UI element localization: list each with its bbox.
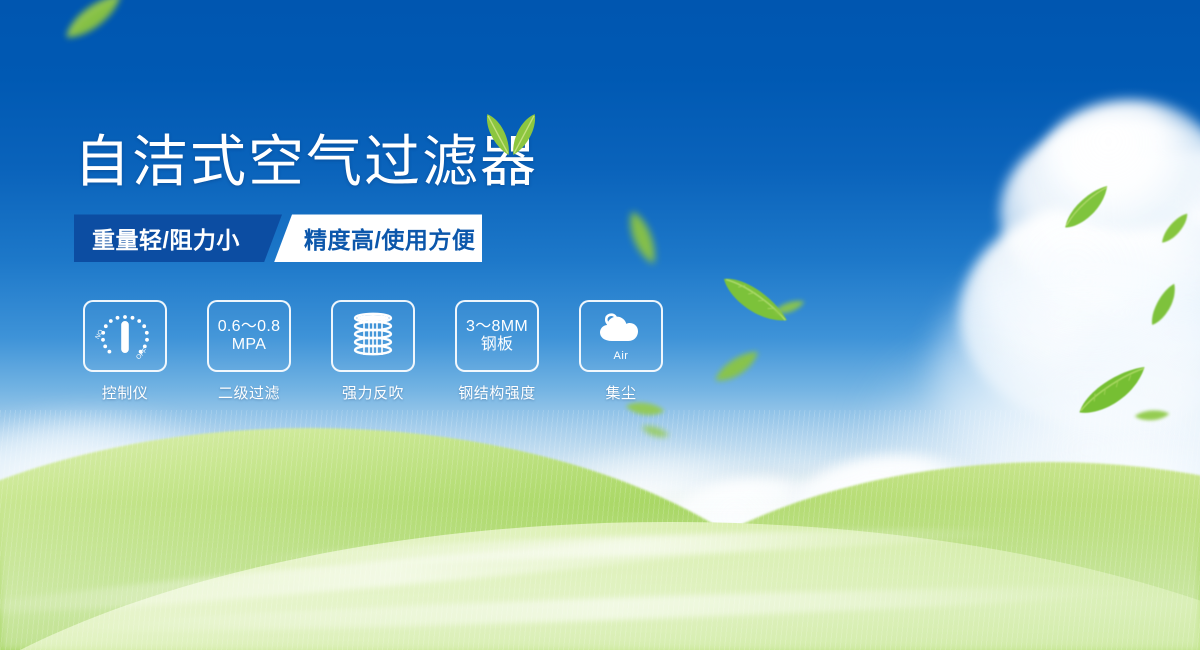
feature-item-controller: NO OFF 控制仪 bbox=[74, 300, 176, 403]
leaf-decoration bbox=[707, 346, 766, 388]
grass-sheen bbox=[0, 500, 1200, 650]
feature-item-steel: 3～8MM 钢板 钢结构强度 bbox=[446, 300, 548, 403]
feature-icon-box: NO OFF bbox=[83, 300, 167, 372]
sprout-leaves-icon bbox=[467, 106, 553, 164]
steel-line-1: 3～8MM bbox=[466, 318, 528, 337]
cloud-shape bbox=[1040, 100, 1200, 230]
feature-icon-box: 3～8MM 钢板 bbox=[455, 300, 539, 372]
steel-plate-text-icon: 3～8MM 钢板 bbox=[466, 318, 528, 356]
feature-item-dust: Air 集尘 bbox=[570, 300, 672, 403]
feature-icon-box: Air bbox=[579, 300, 663, 372]
air-label: Air bbox=[614, 350, 629, 362]
air-cloud-icon bbox=[592, 311, 650, 349]
feature-item-blowback: 强力反吹 bbox=[322, 300, 424, 403]
feature-label: 钢结构强度 bbox=[458, 382, 536, 403]
subtitle-left-segment: 重量轻/阻力小 bbox=[74, 214, 282, 262]
pressure-line-1: 0.6～0.8 bbox=[218, 318, 281, 337]
steel-line-2: 钢板 bbox=[466, 336, 528, 355]
subtitle-left-text: 重量轻/阻力小 bbox=[92, 221, 240, 255]
cloud-shape bbox=[1000, 118, 1200, 308]
feature-icon-box bbox=[331, 300, 415, 372]
leaf-decoration bbox=[55, 0, 133, 47]
product-banner: 自洁式空气过滤器 重量轻/阻力小 精度高/使用方 bbox=[0, 0, 1200, 650]
feature-item-pressure: 0.6～0.8 MPA 二级过滤 bbox=[198, 300, 300, 403]
feature-label: 强力反吹 bbox=[342, 382, 404, 403]
page-title: 自洁式空气过滤器 bbox=[74, 132, 714, 192]
leaf-decoration bbox=[715, 262, 793, 339]
feature-label: 控制仪 bbox=[102, 382, 149, 403]
cloud-shape bbox=[960, 200, 1200, 430]
filter-cartridge-icon bbox=[345, 309, 401, 363]
gauge-icon: NO OFF bbox=[94, 309, 156, 363]
title-row: 自洁式空气过滤器 bbox=[74, 132, 714, 192]
feature-label: 集尘 bbox=[605, 382, 636, 403]
subtitle-right-text: 精度高/使用方便 bbox=[304, 221, 475, 255]
feature-label: 二级过滤 bbox=[218, 382, 280, 403]
feature-icon-box: 0.6～0.8 MPA bbox=[207, 300, 291, 372]
leaf-decoration bbox=[1054, 180, 1120, 236]
leaf-decoration bbox=[1154, 209, 1196, 248]
banner-content: 自洁式空气过滤器 重量轻/阻力小 精度高/使用方 bbox=[74, 132, 714, 403]
pressure-line-2: MPA bbox=[218, 336, 281, 355]
cloud-shape bbox=[1080, 150, 1200, 360]
subtitle-right-segment: 精度高/使用方便 bbox=[274, 214, 482, 262]
leaf-decoration bbox=[771, 298, 807, 318]
subtitle-bar: 重量轻/阻力小 精度高/使用方便 bbox=[74, 214, 482, 262]
pressure-text-icon: 0.6～0.8 MPA bbox=[218, 318, 281, 356]
leaf-decoration bbox=[1141, 280, 1186, 330]
grass-field bbox=[0, 410, 1200, 650]
svg-text:OFF: OFF bbox=[135, 347, 149, 361]
feature-list: NO OFF 控制仪 0.6～0.8 MPA 二级过滤 bbox=[74, 300, 714, 403]
